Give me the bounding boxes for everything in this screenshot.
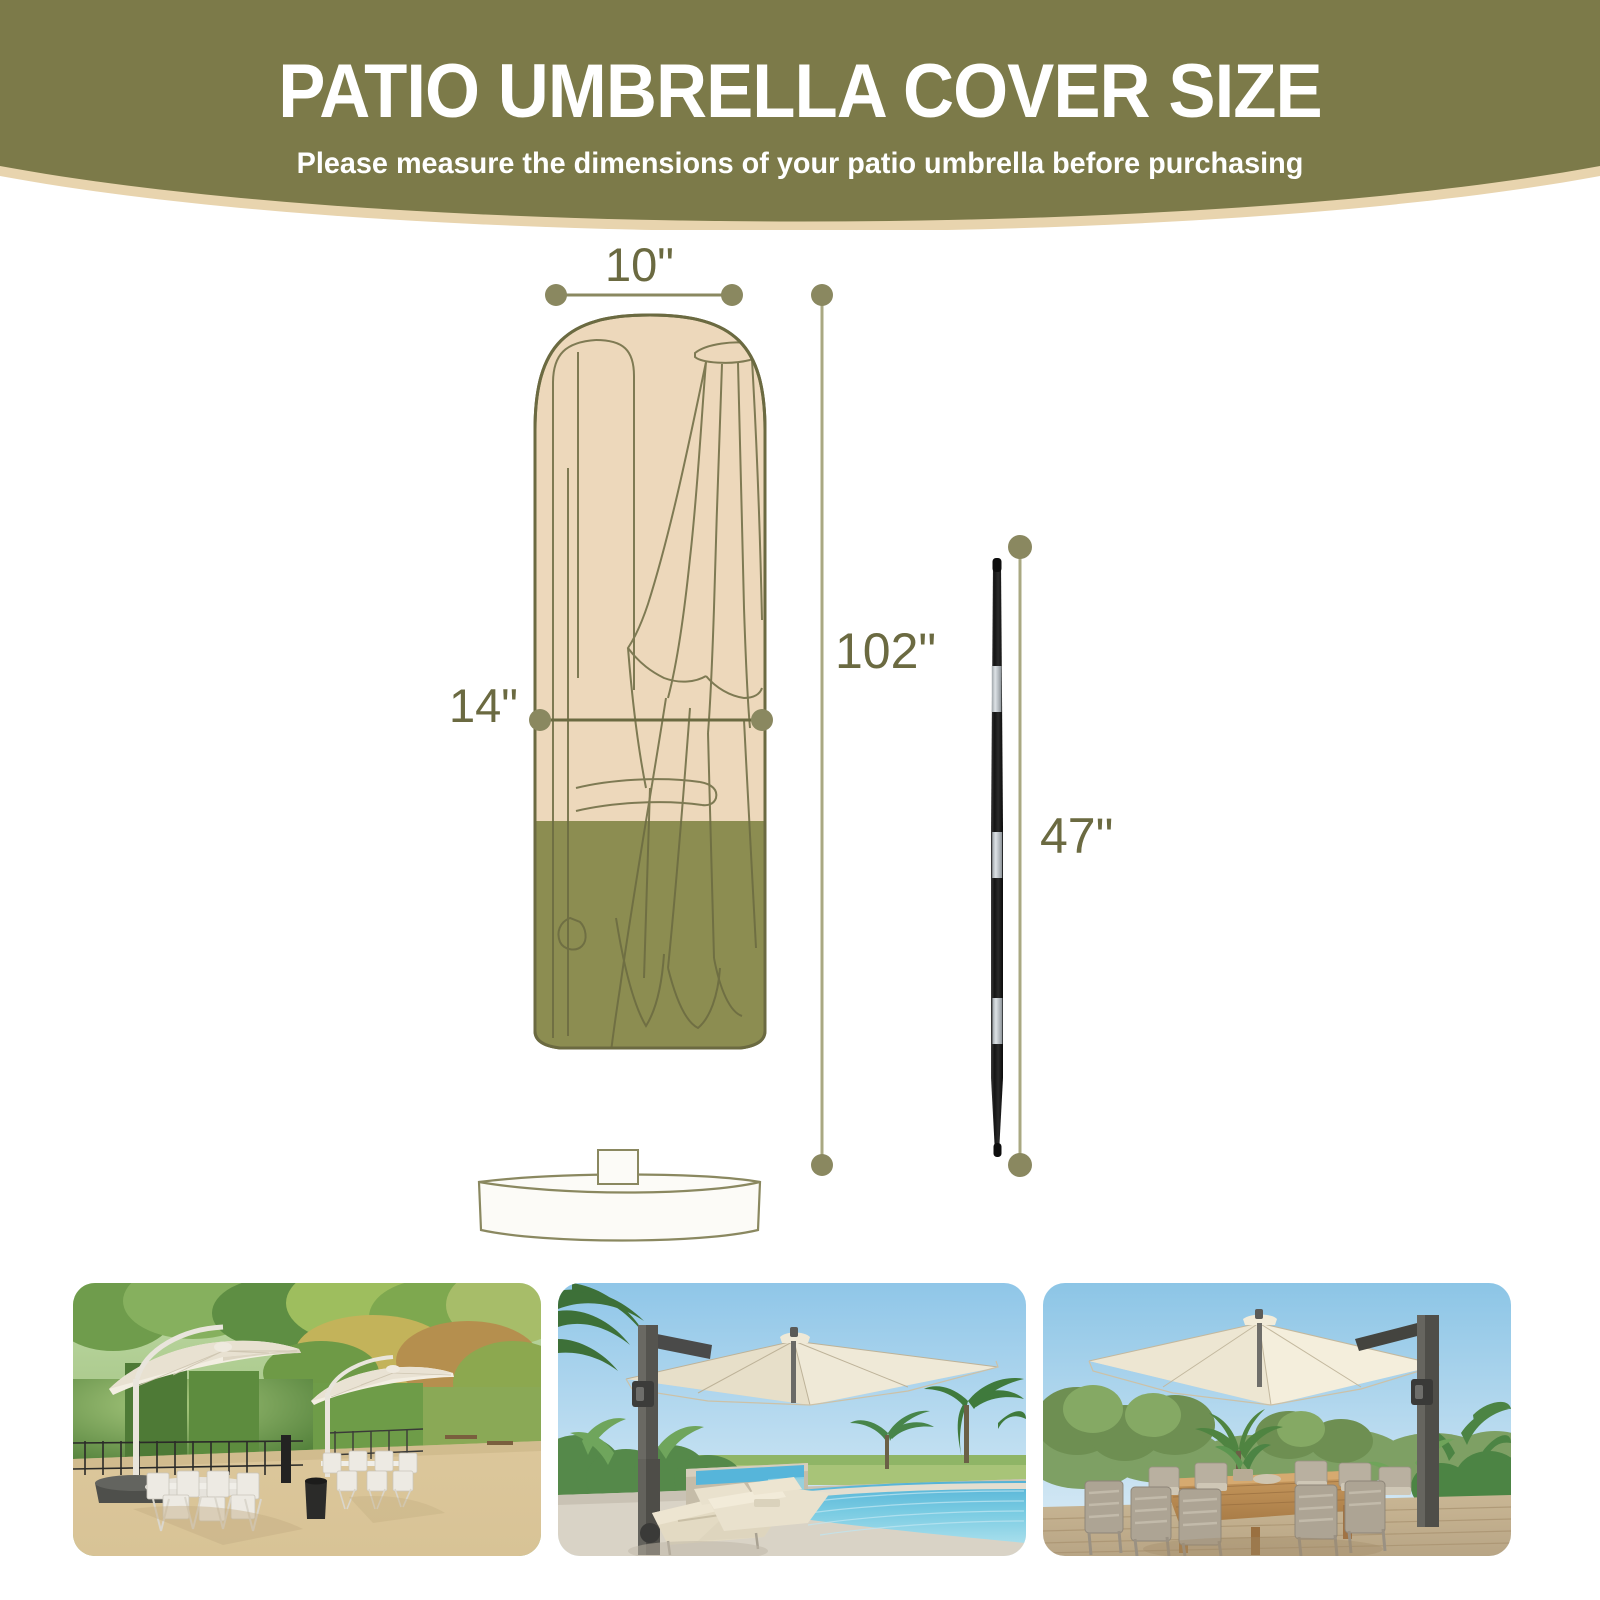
umbrella-base — [479, 1150, 760, 1241]
photo-garden-patio-two-cantilever-umbrellas — [73, 1283, 541, 1556]
dimension-label-10in: 10" — [605, 242, 674, 288]
dimension-line-102in — [811, 284, 833, 1176]
dimension-line-47in — [1008, 535, 1032, 1177]
umbrella-pole — [991, 558, 1003, 1157]
header-text-block: PATIO UMBRELLA COVER SIZE Please measure… — [0, 0, 1600, 184]
photo-poolside-cantilever-umbrella-loungers — [558, 1283, 1026, 1556]
dimension-label-14in: 14" — [449, 683, 518, 729]
page-subtitle: Please measure the dimensions of your pa… — [32, 138, 1568, 184]
dimension-diagram-svg — [0, 228, 1600, 1268]
dimension-label-47in: 47" — [1040, 813, 1113, 859]
header-banner: PATIO UMBRELLA COVER SIZE Please measure… — [0, 0, 1600, 230]
dimension-label-102in: 102" — [835, 628, 936, 674]
dimension-diagram: 10" 14" 102" 47" — [0, 228, 1600, 1268]
page-title: PATIO UMBRELLA COVER SIZE — [56, 0, 1544, 138]
umbrella-cover — [520, 315, 780, 1098]
photo-outdoor-dining-set-cantilever-umbrella — [1043, 1283, 1511, 1556]
product-photo-strip — [0, 1283, 1600, 1558]
